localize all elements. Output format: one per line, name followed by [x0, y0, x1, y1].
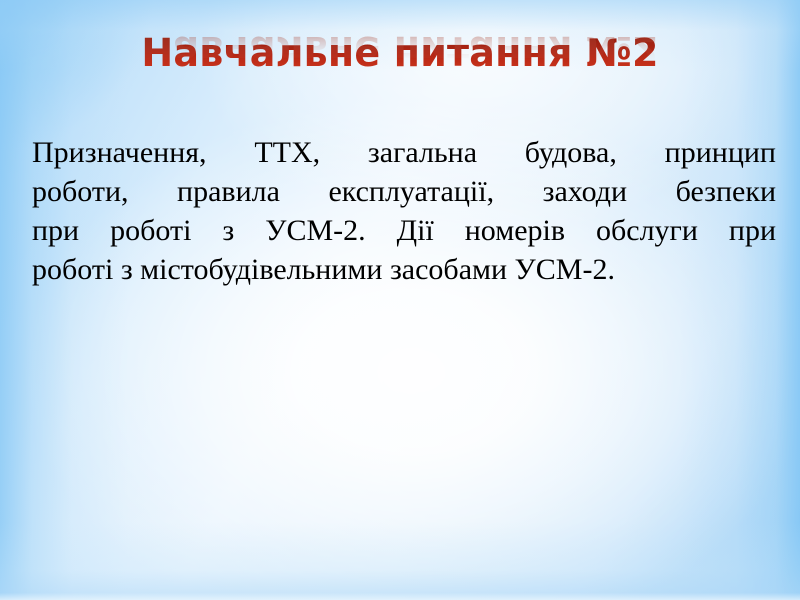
- slide-canvas: Навчальне питання №2 Навчальне питання №…: [0, 0, 800, 600]
- body-line: роботи, правила експлуатації, заходи без…: [32, 172, 776, 211]
- slide-title-block: Навчальне питання №2 Навчальне питання №…: [0, 34, 800, 107]
- body-line: Призначення, ТТХ, загальна будова, принц…: [32, 133, 776, 172]
- body-line: при роботі з УСМ-2. Дії номерів обслуги …: [32, 211, 776, 250]
- body-line: роботі з містобудівельними засобами УСМ-…: [32, 250, 776, 289]
- slide-body-block: Призначення, ТТХ, загальна будова, принц…: [32, 133, 776, 289]
- slide-body-paragraph: Призначення, ТТХ, загальна будова, принц…: [32, 133, 776, 289]
- slide-title-reflection: Навчальне питання №2: [0, 31, 800, 69]
